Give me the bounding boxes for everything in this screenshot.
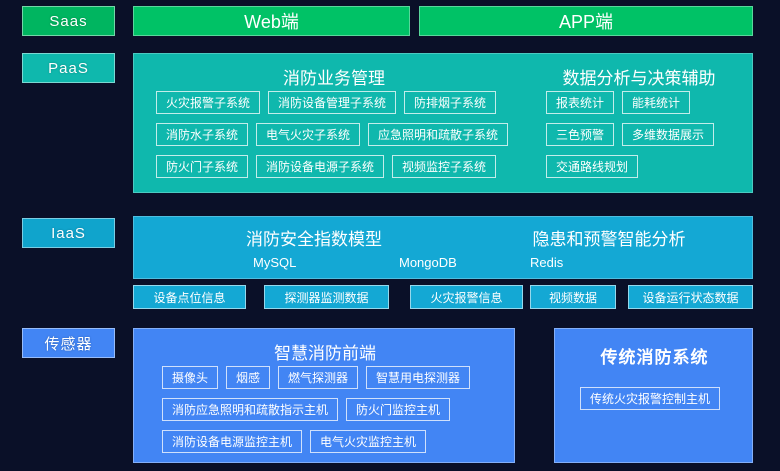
chip-multidimensional-data-display[interactable]: 多维数据展示 (622, 123, 714, 146)
paas-panel: 消防业务管理 火灾报警子系统 消防设备管理子系统 防排烟子系统 消防水子系统 电… (133, 53, 753, 193)
sensor-traditional-panel: 传统消防系统 传统火灾报警控制主机 (554, 328, 753, 463)
data-chip-detector-monitoring-data[interactable]: 探测器监测数据 (264, 285, 389, 309)
sensor-smart-title: 智慧消防前端 (134, 339, 516, 364)
tier-label-iaas: IaaS (22, 218, 115, 248)
paas-analytics-row-2: 三色预警 多维数据展示 (546, 123, 714, 146)
saas-bar-app-label: APP端 (559, 8, 613, 34)
iaas-title-safety-index-model: 消防安全指数模型 (149, 225, 479, 250)
chip-emergency-lighting-evacuation-host[interactable]: 消防应急照明和疏散指示主机 (162, 398, 338, 421)
chip-video-surveillance-subsystem[interactable]: 视频监控子系统 (392, 155, 496, 178)
chip-fire-door-monitoring-host[interactable]: 防火门监控主机 (346, 398, 450, 421)
paas-business-row-2: 消防水子系统 电气火灾子系统 应急照明和疏散子系统 (156, 123, 508, 146)
data-chip-device-status-data[interactable]: 设备运行状态数据 (628, 285, 753, 309)
db-label-mysql: MySQL (253, 255, 296, 270)
sensor-traditional-title: 传统消防系统 (555, 343, 754, 368)
saas-bar-web[interactable]: Web端 (133, 6, 410, 36)
sensor-smart-row-3: 消防设备电源监控主机 电气火灾监控主机 (162, 430, 426, 453)
chip-report-statistics[interactable]: 报表统计 (546, 91, 614, 114)
chip-fire-power-supply-subsystem[interactable]: 消防设备电源子系统 (256, 155, 384, 178)
paas-business-row-1: 火灾报警子系统 消防设备管理子系统 防排烟子系统 (156, 91, 496, 114)
tier-label-saas-text: Saas (49, 13, 87, 30)
sensor-smart-row-2: 消防应急照明和疏散指示主机 防火门监控主机 (162, 398, 450, 421)
chip-fire-water-subsystem[interactable]: 消防水子系统 (156, 123, 248, 146)
paas-analytics-row-3: 交通路线规划 (546, 155, 638, 178)
saas-bar-web-label: Web端 (244, 8, 299, 34)
chip-three-color-warning[interactable]: 三色预警 (546, 123, 614, 146)
tier-label-iaas-text: IaaS (51, 225, 86, 242)
sensor-traditional-row-1: 传统火灾报警控制主机 (580, 387, 720, 410)
chip-fire-equipment-mgmt-subsystem[interactable]: 消防设备管理子系统 (268, 91, 396, 114)
chip-energy-statistics[interactable]: 能耗统计 (622, 91, 690, 114)
paas-analytics-row-1: 报表统计 能耗统计 (546, 91, 690, 114)
paas-analytics-title: 数据分析与决策辅助 (529, 64, 749, 89)
db-label-redis: Redis (530, 255, 563, 270)
chip-traffic-route-planning[interactable]: 交通路线规划 (546, 155, 638, 178)
data-chip-fire-alarm-info[interactable]: 火灾报警信息 (410, 285, 523, 309)
tier-label-paas: PaaS (22, 53, 115, 83)
tier-label-paas-text: PaaS (48, 60, 89, 77)
chip-smart-power-detector[interactable]: 智慧用电探测器 (366, 366, 470, 389)
chip-fire-power-supply-monitoring-host[interactable]: 消防设备电源监控主机 (162, 430, 302, 453)
chip-gas-detector[interactable]: 燃气探测器 (278, 366, 358, 389)
iaas-title-hazard-warning-analysis: 隐患和预警智能分析 (464, 225, 754, 250)
sensor-smart-row-1: 摄像头 烟感 燃气探测器 智慧用电探测器 (162, 366, 470, 389)
data-chip-video-data[interactable]: 视频数据 (530, 285, 616, 309)
chip-emergency-lighting-subsystem[interactable]: 应急照明和疏散子系统 (368, 123, 508, 146)
data-chip-device-location-info[interactable]: 设备点位信息 (133, 285, 246, 309)
saas-bar-app[interactable]: APP端 (419, 6, 753, 36)
iaas-panel: 消防安全指数模型 隐患和预警智能分析 MySQL MongoDB Redis (133, 216, 753, 279)
chip-electrical-fire-monitoring-host[interactable]: 电气火灾监控主机 (310, 430, 426, 453)
tier-label-saas: Saas (22, 6, 115, 36)
architecture-diagram: Saas Web端 APP端 PaaS 消防业务管理 火灾报警子系统 消防设备管… (0, 0, 780, 471)
chip-electrical-fire-subsystem[interactable]: 电气火灾子系统 (256, 123, 360, 146)
tier-label-sensor-text: 传感器 (44, 333, 92, 354)
chip-fire-door-subsystem[interactable]: 防火门子系统 (156, 155, 248, 178)
chip-camera[interactable]: 摄像头 (162, 366, 218, 389)
chip-fire-alarm-subsystem[interactable]: 火灾报警子系统 (156, 91, 260, 114)
chip-smoke-exhaust-subsystem[interactable]: 防排烟子系统 (404, 91, 496, 114)
paas-business-row-3: 防火门子系统 消防设备电源子系统 视频监控子系统 (156, 155, 496, 178)
tier-label-sensor: 传感器 (22, 328, 115, 358)
db-label-mongodb: MongoDB (399, 255, 457, 270)
chip-smoke-detector[interactable]: 烟感 (226, 366, 270, 389)
paas-business-title: 消防业务管理 (134, 64, 534, 89)
sensor-smart-panel: 智慧消防前端 摄像头 烟感 燃气探测器 智慧用电探测器 消防应急照明和疏散指示主… (133, 328, 515, 463)
chip-traditional-fire-alarm-control-host[interactable]: 传统火灾报警控制主机 (580, 387, 720, 410)
